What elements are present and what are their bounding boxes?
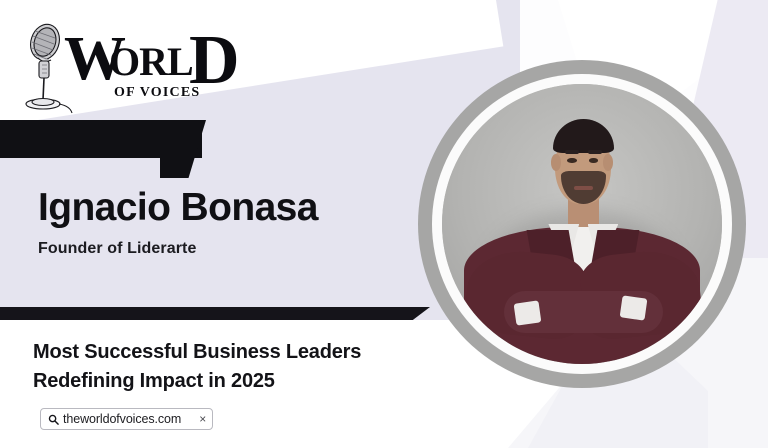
wordmark-orl: ORL xyxy=(109,42,193,82)
person-name: Ignacio Bonasa xyxy=(38,186,318,230)
brand-wordmark: W ORL D OF VOICES xyxy=(64,28,254,110)
portrait-cuff-right xyxy=(620,295,648,321)
portrait-eye-right xyxy=(589,158,599,163)
portrait-brow-left xyxy=(565,150,579,154)
headline-line-2: Redefining Impact in 2025 xyxy=(33,367,413,396)
portrait-eye-left xyxy=(567,158,577,163)
magnifier-icon xyxy=(48,414,59,425)
brand-logo[interactable]: W ORL D OF VOICES xyxy=(0,6,260,118)
website-url-text: theworldofvoices.com xyxy=(63,412,181,426)
brand-tagline: OF VOICES xyxy=(114,85,200,101)
portrait-ring xyxy=(418,60,746,388)
portrait-cuff-left xyxy=(513,301,541,327)
headline-line-1: Most Successful Business Leaders xyxy=(33,338,413,367)
portrait-ear-left xyxy=(551,154,561,171)
portrait-mouth xyxy=(574,186,594,190)
portrait-ear-right xyxy=(603,154,613,171)
close-x-icon[interactable]: × xyxy=(199,413,206,425)
article-feature-card: W ORL D OF VOICES Ignacio Bonasa Founder… xyxy=(0,0,768,448)
article-headline: Most Successful Business Leaders Redefin… xyxy=(33,338,413,396)
website-search-pill[interactable]: theworldofvoices.com × xyxy=(40,408,213,430)
avatar xyxy=(442,84,722,364)
black-divider-bar xyxy=(0,307,430,320)
person-role: Founder of Liderarte xyxy=(38,240,196,258)
portrait-brow-right xyxy=(588,150,602,154)
